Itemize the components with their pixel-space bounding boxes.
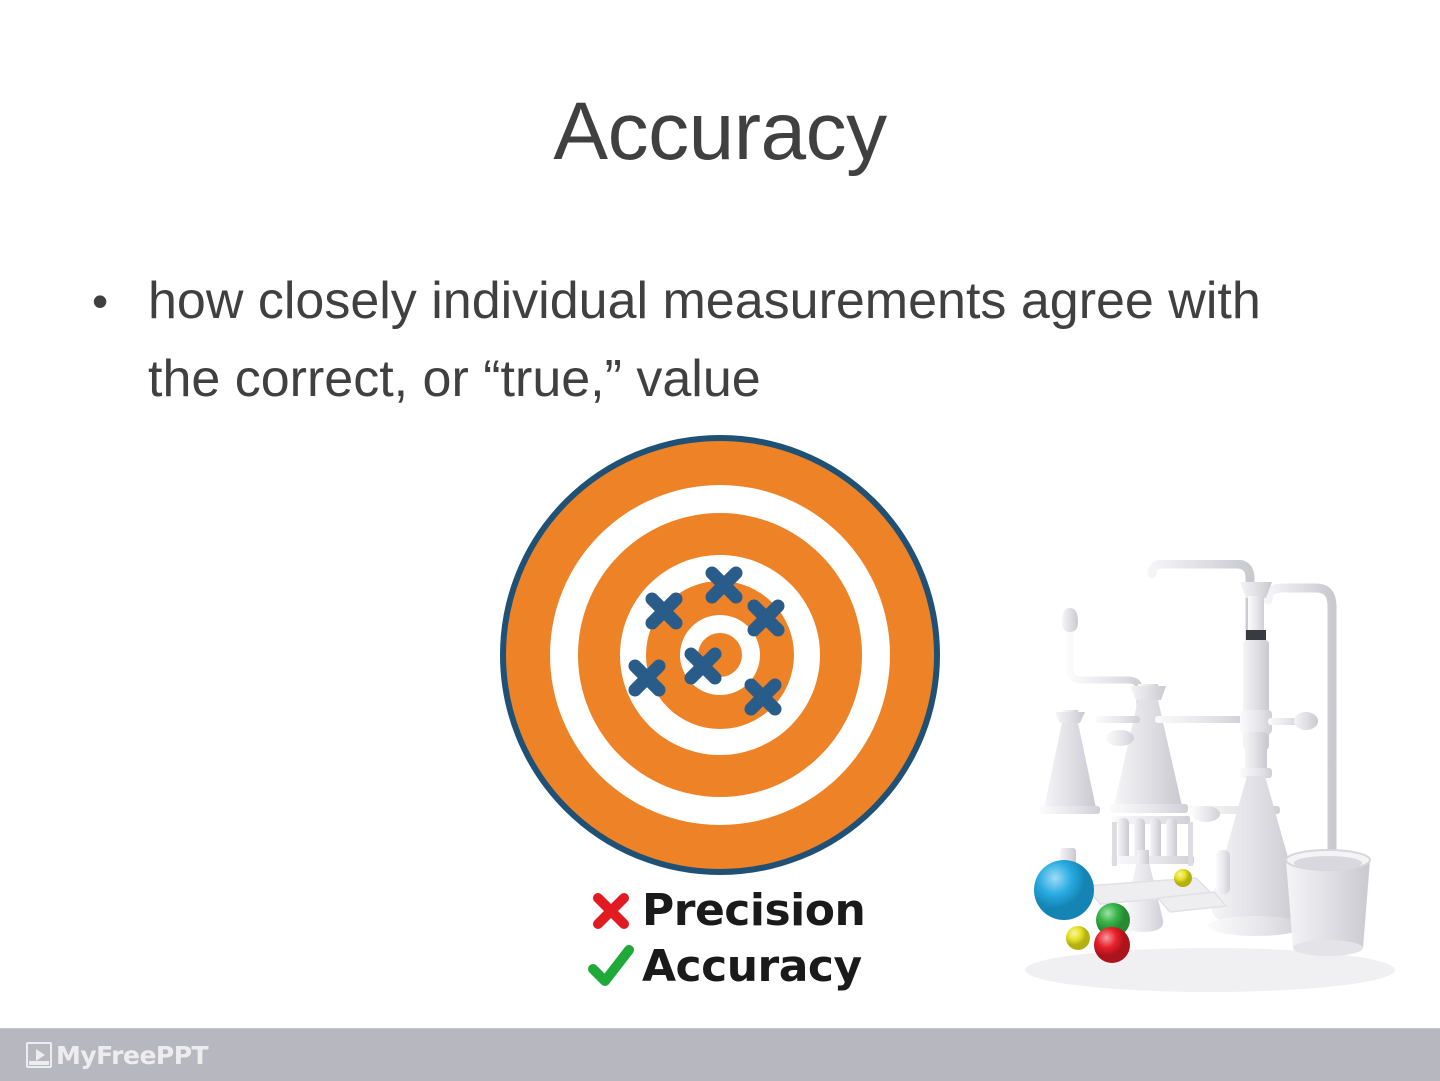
shot-mark	[635, 666, 659, 690]
shot-mark	[754, 606, 778, 630]
list-item: • how closely individual measurements ag…	[86, 262, 1316, 418]
bullet-marker-icon: •	[86, 262, 148, 340]
yellow-sphere	[1174, 869, 1192, 887]
legend-label-precision: Precision	[642, 887, 865, 935]
legend-item-accuracy: Accuracy	[580, 939, 880, 995]
footer-bar: MyFreePPT	[0, 1028, 1440, 1081]
check-mark-icon	[580, 939, 642, 995]
watermark-logo: MyFreePPT	[26, 1040, 208, 1070]
lab-glassware-icon	[1000, 560, 1400, 1000]
shot-mark	[712, 573, 736, 597]
accuracy-target-figure: Precision Accuracy	[500, 435, 940, 1010]
watermark-text: MyFreePPT	[56, 1041, 208, 1070]
shot-mark	[652, 599, 676, 623]
bullet-text: how closely individual measurements agre…	[148, 262, 1298, 418]
lab-glassware-figure	[1000, 560, 1400, 1000]
target-legend: Precision Accuracy	[580, 883, 880, 995]
erlenmeyer-flask-middle	[1110, 684, 1188, 813]
legend-label-accuracy: Accuracy	[642, 943, 862, 991]
shot-mark	[691, 654, 715, 678]
cross-mark-icon	[580, 883, 642, 939]
page-title: Accuracy	[0, 84, 1440, 180]
slide-canvas: Accuracy • how closely individual measur…	[0, 0, 1440, 1080]
bullet-list: • how closely individual measurements ag…	[86, 262, 1316, 418]
erlenmeyer-flask-left	[1040, 710, 1100, 814]
red-sphere	[1094, 927, 1130, 963]
legend-item-precision: Precision	[580, 883, 880, 939]
yellow-sphere	[1066, 926, 1090, 950]
beaker	[1286, 850, 1370, 956]
blue-sphere	[1034, 860, 1094, 920]
test-tube-rack	[1110, 816, 1194, 866]
burette-column	[1240, 582, 1318, 778]
play-badge-icon	[26, 1042, 52, 1068]
target-icon	[500, 435, 940, 875]
small-vial	[1216, 850, 1230, 894]
shot-mark	[751, 685, 775, 709]
